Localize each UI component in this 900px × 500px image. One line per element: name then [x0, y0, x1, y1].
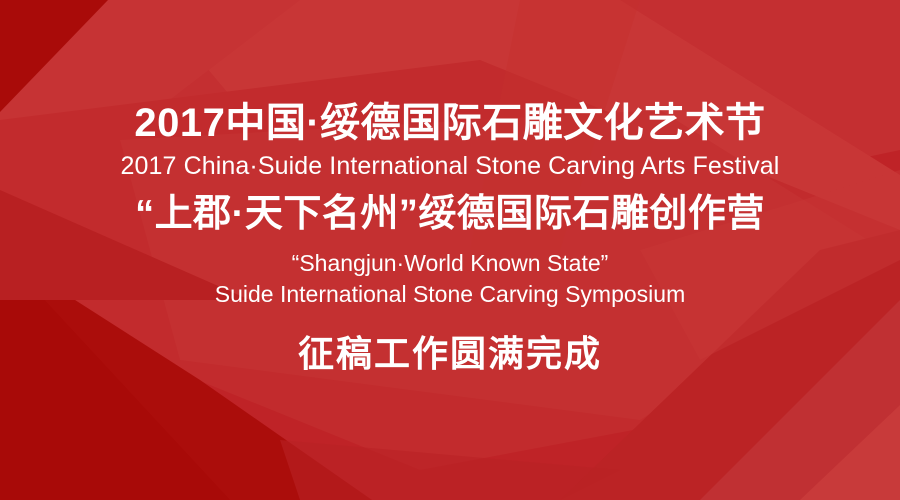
- chinese-subtitle: “上郡·天下名州”绥德国际石雕创作营: [0, 195, 900, 233]
- english-main-title: 2017 China·Suide International Stone Car…: [0, 154, 900, 179]
- english-subtitle-line-2: Suide International Stone Carving Sympos…: [0, 283, 900, 306]
- chinese-status-line: 征稿工作圆满完成: [0, 336, 900, 372]
- chinese-main-title: 2017中国·绥德国际石雕文化艺术节: [0, 103, 900, 143]
- english-subtitle-line-1: “Shangjun·World Known State”: [0, 252, 900, 275]
- festival-poster: 2017中国·绥德国际石雕文化艺术节 2017 China·Suide Inte…: [0, 0, 900, 500]
- poster-text-stack: 2017中国·绥德国际石雕文化艺术节 2017 China·Suide Inte…: [0, 0, 900, 500]
